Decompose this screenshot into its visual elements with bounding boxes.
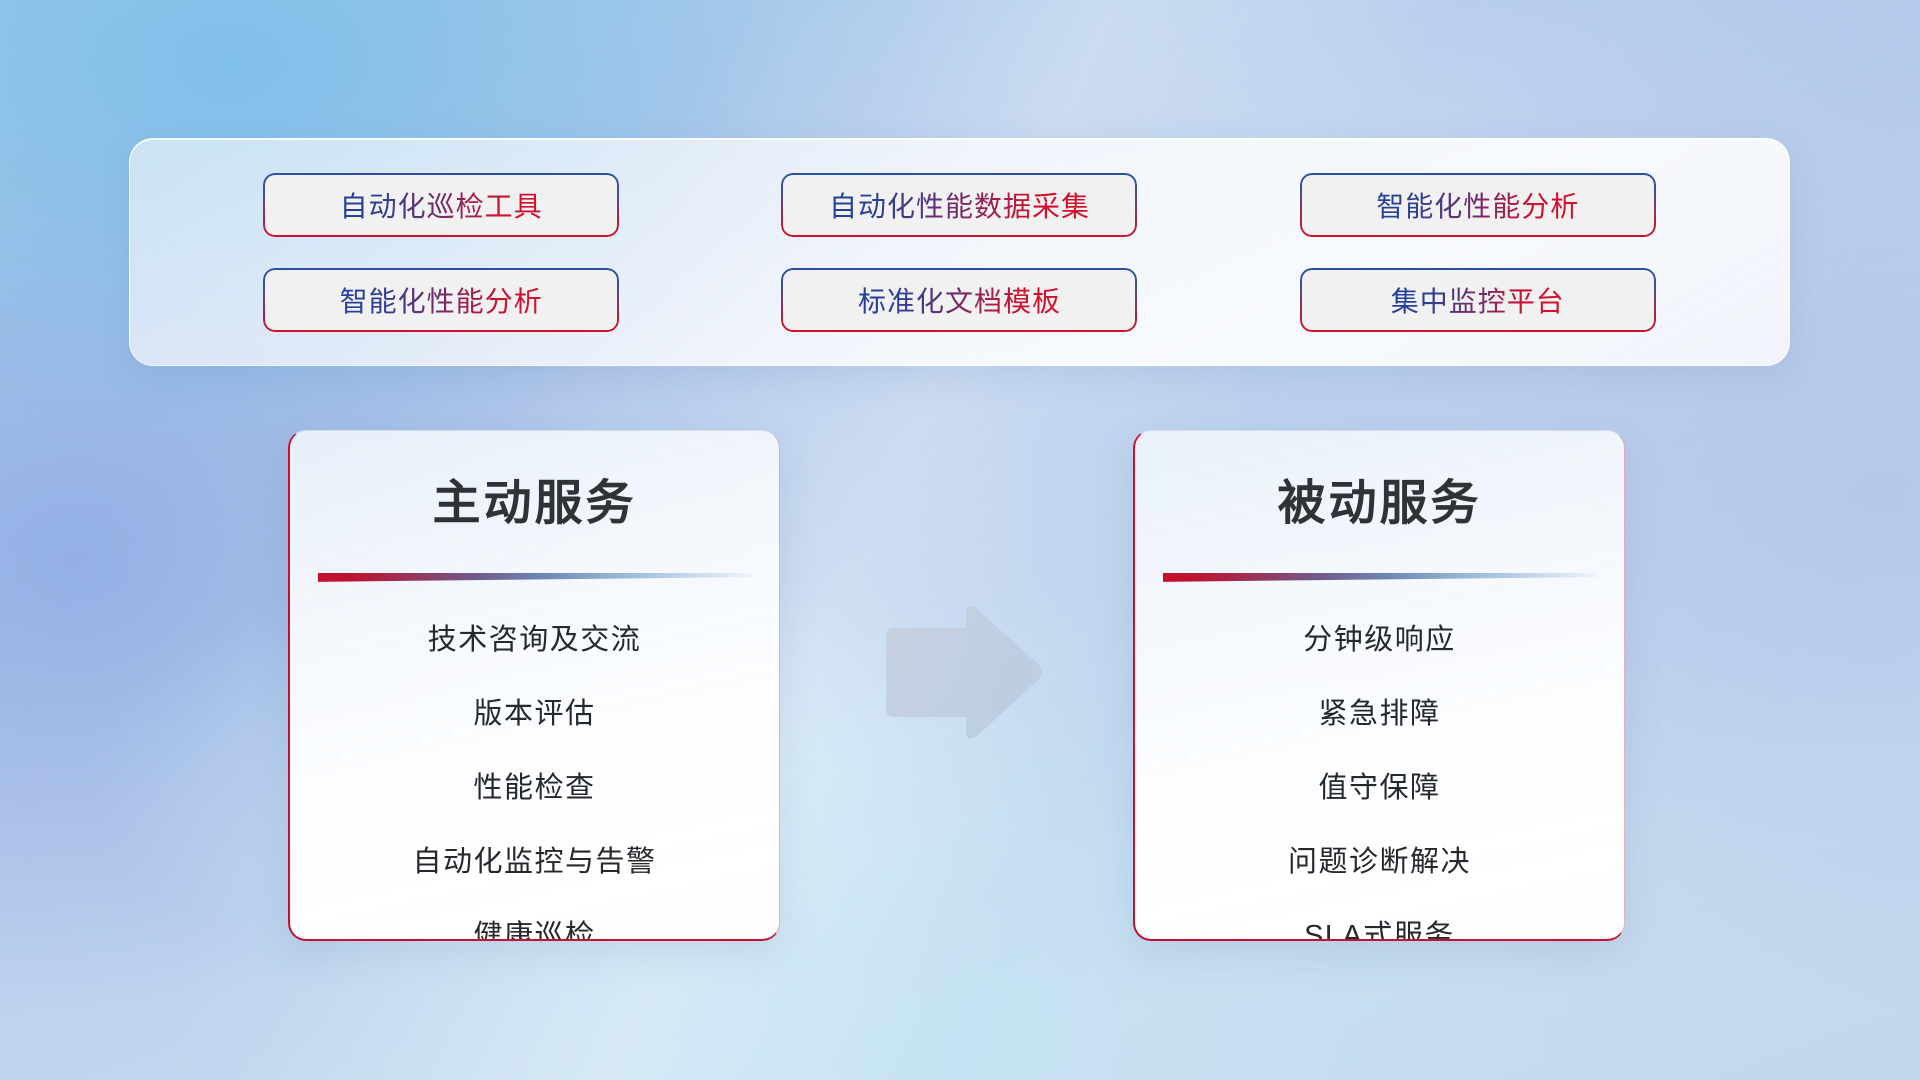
service-list-item: 问题诊断解决	[1135, 848, 1624, 877]
service-card-title: 被动服务	[1135, 463, 1624, 533]
title-divider-bar	[318, 573, 752, 582]
capability-pill-automation-inspection-tool[interactable]: 自动化巡检工具	[263, 173, 619, 237]
flow-arrow-svg	[878, 602, 1046, 744]
capability-pill-standardized-document-template[interactable]: 标准化文档模板	[781, 268, 1137, 332]
service-item-list: 分钟级响应 紧急排障 值守保障 问题诊断解决 SLA式服务	[1135, 626, 1624, 941]
title-divider-bar	[1163, 573, 1597, 582]
capability-pill-label: 智能化性能分析	[1376, 185, 1579, 225]
service-card-title: 主动服务	[290, 463, 779, 533]
capability-pill-automated-performance-data-collection[interactable]: 自动化性能数据采集	[781, 173, 1137, 237]
service-card-passive: 被动服务 分钟级响应 紧急排障 值守保障 问题诊断解决 SLA式服务	[1133, 430, 1625, 941]
service-list-item: 技术咨询及交流	[290, 626, 779, 655]
service-list-item: 分钟级响应	[1135, 626, 1624, 655]
flow-arrow-shape	[886, 606, 1042, 738]
capability-pill-label: 集中监控平台	[1391, 280, 1565, 320]
service-list-item: 自动化监控与告警	[290, 848, 779, 877]
service-item-list: 技术咨询及交流 版本评估 性能检查 自动化监控与告警 健康巡检	[290, 626, 779, 941]
capability-pill-intelligent-performance-analysis-bottom[interactable]: 智能化性能分析	[263, 268, 619, 332]
service-list-item: 版本评估	[290, 700, 779, 729]
capability-pill-intelligent-performance-analysis-top[interactable]: 智能化性能分析	[1300, 173, 1656, 237]
capability-pill-label: 自动化性能数据采集	[829, 185, 1090, 225]
capability-pill-label: 标准化文档模板	[858, 280, 1061, 320]
title-divider	[1163, 573, 1597, 582]
service-list-item: 紧急排障	[1135, 700, 1624, 729]
capability-tools-panel: 自动化巡检工具 自动化性能数据采集 智能化性能分析 智能化性能分析 标准化文档模…	[129, 138, 1790, 366]
capability-pill-label: 智能化性能分析	[340, 280, 543, 320]
service-list-item: SLA式服务	[1135, 922, 1624, 941]
flow-arrow-right-icon	[878, 602, 1046, 744]
capability-pill-label: 自动化巡检工具	[340, 185, 543, 225]
capability-pill-centralized-monitoring-platform[interactable]: 集中监控平台	[1300, 268, 1656, 332]
service-card-active: 主动服务 技术咨询及交流 版本评估 性能检查 自动化监控与告警 健康巡检	[288, 430, 780, 941]
title-divider	[318, 573, 752, 582]
service-list-item: 性能检查	[290, 774, 779, 803]
service-list-item: 值守保障	[1135, 774, 1624, 803]
service-list-item: 健康巡检	[290, 922, 779, 941]
